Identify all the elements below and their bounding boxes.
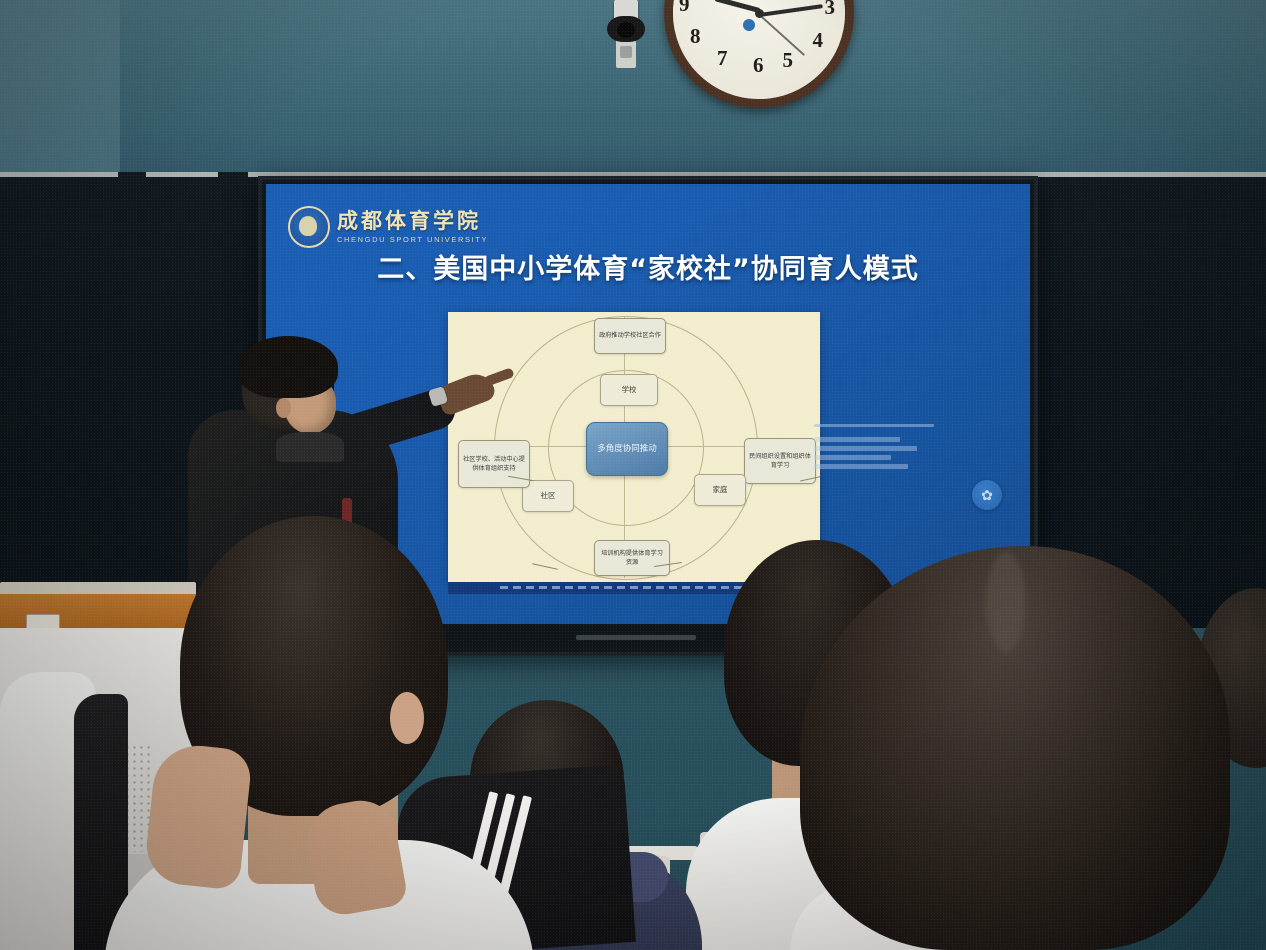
chalk-rail-left xyxy=(0,172,118,177)
clock-number-4: 4 xyxy=(813,28,824,53)
chalk-rail-mid xyxy=(146,172,218,177)
security-camera-icon xyxy=(604,0,648,72)
camera-stem xyxy=(616,40,636,68)
diagram-center-label: 多角度协同推动 xyxy=(586,422,668,476)
node-school: 学校 xyxy=(600,374,658,406)
node-family: 家庭 xyxy=(694,474,746,506)
presenter-collar xyxy=(276,432,344,462)
university-name-en: CHENGDU SPORT UNIVERSITY xyxy=(337,236,488,244)
node-community: 社区 xyxy=(522,480,574,512)
clock-number-9: 9 xyxy=(679,0,690,17)
university-seal-icon xyxy=(288,206,330,248)
student-front-left-ear xyxy=(390,692,424,744)
clock-brand-dot xyxy=(743,19,755,31)
university-name-cn: 成都体育学院 xyxy=(337,211,488,232)
slide-title: 二、美国中小学体育“家校社”协同育人模式 xyxy=(266,247,1030,286)
clock-center-pin xyxy=(755,9,764,18)
callout-right: 民间组织设置和组织体育学习 xyxy=(744,438,816,484)
student-front-left xyxy=(140,516,500,950)
student-foreground-right-hair-part xyxy=(986,552,1026,652)
classroom-photo: 3 4 5 6 7 8 9 成都体育学院 CHENGDU SP xyxy=(0,0,1266,950)
university-logo: 成都体育学院 CHENGDU SPORT UNIVERSITY xyxy=(288,206,488,248)
camera-lens xyxy=(617,22,635,38)
clock-number-6: 6 xyxy=(753,53,764,78)
clock-hour-hand xyxy=(715,0,761,13)
presenter-ear xyxy=(276,398,291,418)
callout-top: 政府推动学校社区合作 xyxy=(594,318,666,354)
clock-number-7: 7 xyxy=(717,46,728,71)
connector-arrow-bottom-left xyxy=(532,563,558,569)
student-foreground-right-hair xyxy=(800,546,1230,950)
clock-face: 3 4 5 6 7 8 9 xyxy=(673,0,845,99)
clock-number-8: 8 xyxy=(690,24,701,49)
presenter-hair xyxy=(238,336,338,398)
callout-left: 社区学校、活动中心提供体育组织支持 xyxy=(458,440,530,488)
callout-bottom: 培训机构提供体育学习资源 xyxy=(594,540,670,576)
share-icon[interactable]: ✿ xyxy=(972,480,1002,510)
student-front-left-hand xyxy=(143,741,253,890)
upper-wall-left-panel xyxy=(0,0,120,178)
clock-number-3: 3 xyxy=(825,0,836,20)
clock-number-5: 5 xyxy=(783,48,794,73)
slide-side-text-block xyxy=(814,424,934,473)
clock-minute-hand xyxy=(759,4,823,17)
student-foreground-right xyxy=(800,546,1266,950)
